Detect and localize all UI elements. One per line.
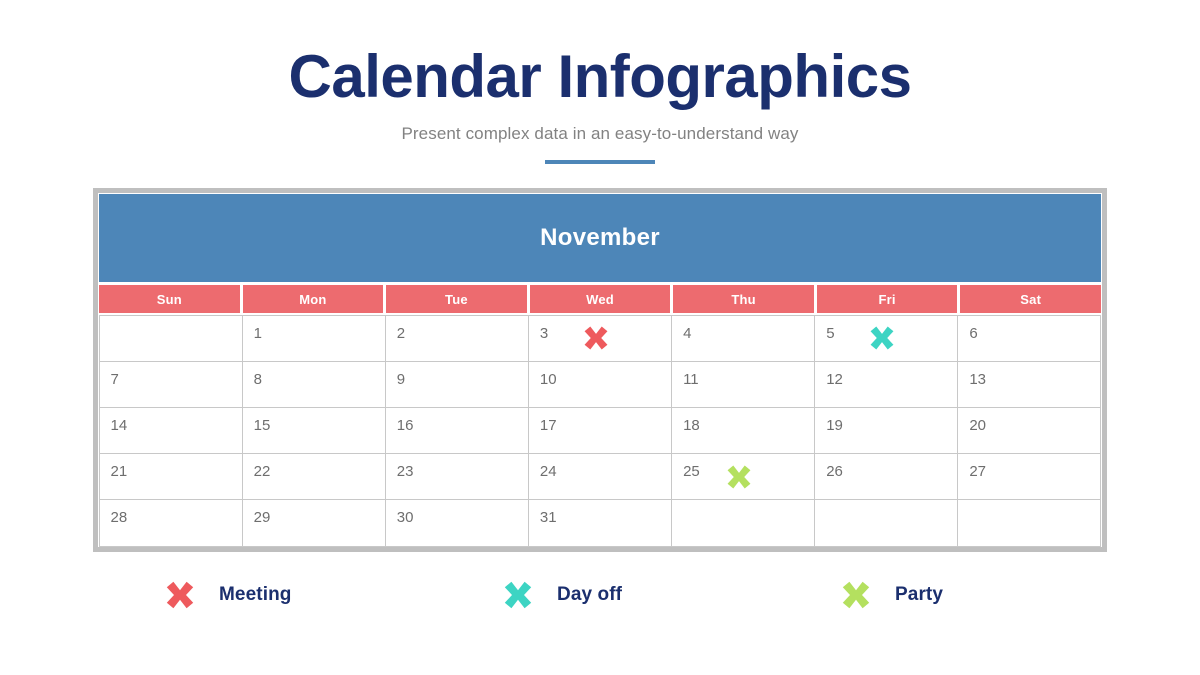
- day-cell-21[interactable]: 21: [99, 453, 243, 500]
- legend-day-off-cross-icon: [503, 580, 533, 610]
- legend-label: Party: [895, 584, 943, 606]
- day-number: 26: [826, 464, 843, 479]
- legend-item-day-off[interactable]: Day off: [431, 580, 769, 610]
- day-number: 10: [540, 372, 557, 387]
- legend-label: Day off: [557, 584, 622, 606]
- calendar-legend: MeetingDay offParty: [93, 580, 1107, 610]
- day-cell-10[interactable]: 10: [528, 361, 672, 408]
- day-number: 29: [254, 510, 271, 525]
- slide-canvas: Calendar Infographics Present complex da…: [0, 0, 1200, 675]
- event-marker-party-icon: [726, 464, 752, 490]
- day-cell-27[interactable]: 27: [957, 453, 1101, 500]
- day-cell-23[interactable]: 23: [385, 453, 529, 500]
- day-number: 15: [254, 418, 271, 433]
- day-number: 8: [254, 372, 262, 387]
- calendar-table: November SunMonTueWedThuFriSat 123456789…: [93, 188, 1107, 552]
- calendar-week-rows: 1234567891011121314151617181920212223242…: [99, 315, 1101, 546]
- day-cell-8[interactable]: 8: [242, 361, 386, 408]
- day-cell-29[interactable]: 29: [242, 499, 386, 546]
- day-cell-26[interactable]: 26: [814, 453, 958, 500]
- day-number: 4: [683, 326, 691, 341]
- day-number: 9: [397, 372, 405, 387]
- calendar-week-row: 78910111213: [99, 361, 1101, 407]
- day-cell-24[interactable]: 24: [528, 453, 672, 500]
- day-number: 28: [111, 510, 128, 525]
- weekday-header-wed: Wed: [530, 285, 671, 313]
- day-number: 19: [826, 418, 843, 433]
- weekday-header-sun: Sun: [99, 285, 240, 313]
- day-cell-3[interactable]: 3: [528, 315, 672, 362]
- page-title: Calendar Infographics: [0, 44, 1200, 110]
- day-cell-18[interactable]: 18: [671, 407, 815, 454]
- day-cell-15[interactable]: 15: [242, 407, 386, 454]
- day-number: 30: [397, 510, 414, 525]
- day-number: 2: [397, 326, 405, 341]
- day-number: 24: [540, 464, 557, 479]
- day-cell-31[interactable]: 31: [528, 499, 672, 546]
- day-number: 31: [540, 510, 557, 525]
- day-number: 13: [969, 372, 986, 387]
- day-number: 12: [826, 372, 843, 387]
- day-number: 17: [540, 418, 557, 433]
- legend-party-cross-icon: [841, 580, 871, 610]
- day-cell-17[interactable]: 17: [528, 407, 672, 454]
- day-cell-12[interactable]: 12: [814, 361, 958, 408]
- legend-item-meeting[interactable]: Meeting: [93, 580, 431, 610]
- day-number: 6: [969, 326, 977, 341]
- day-number: 27: [969, 464, 986, 479]
- weekday-header-fri: Fri: [817, 285, 958, 313]
- legend-item-party[interactable]: Party: [769, 580, 1107, 610]
- day-number: 11: [683, 372, 699, 387]
- legend-label: Meeting: [219, 584, 291, 606]
- calendar-week-row: 123456: [99, 315, 1101, 361]
- day-number: 3: [540, 326, 548, 341]
- day-number: 7: [111, 372, 119, 387]
- day-cell-empty[interactable]: [814, 499, 958, 546]
- day-number: 25: [683, 464, 700, 479]
- day-cell-9[interactable]: 9: [385, 361, 529, 408]
- day-cell-1[interactable]: 1: [242, 315, 386, 362]
- page-subtitle: Present complex data in an easy-to-under…: [0, 124, 1200, 144]
- calendar-month-header: November: [99, 194, 1101, 282]
- title-divider-wrap: [0, 160, 1200, 164]
- day-number: 20: [969, 418, 986, 433]
- day-cell-30[interactable]: 30: [385, 499, 529, 546]
- event-marker-day-off-icon: [869, 325, 895, 351]
- day-cell-19[interactable]: 19: [814, 407, 958, 454]
- calendar-weekday-row: SunMonTueWedThuFriSat: [99, 285, 1101, 313]
- day-cell-25[interactable]: 25: [671, 453, 815, 500]
- day-cell-2[interactable]: 2: [385, 315, 529, 362]
- day-cell-11[interactable]: 11: [671, 361, 815, 408]
- calendar-week-row: 21222324252627: [99, 454, 1101, 500]
- day-number: 21: [111, 464, 128, 479]
- day-cell-4[interactable]: 4: [671, 315, 815, 362]
- day-cell-6[interactable]: 6: [957, 315, 1101, 362]
- weekday-header-thu: Thu: [673, 285, 814, 313]
- weekday-header-sat: Sat: [960, 285, 1101, 313]
- day-cell-22[interactable]: 22: [242, 453, 386, 500]
- day-cell-empty[interactable]: [99, 315, 243, 362]
- day-cell-13[interactable]: 13: [957, 361, 1101, 408]
- calendar-inner: November SunMonTueWedThuFriSat 123456789…: [99, 194, 1101, 546]
- day-number: 18: [683, 418, 700, 433]
- weekday-header-mon: Mon: [243, 285, 384, 313]
- day-cell-5[interactable]: 5: [814, 315, 958, 362]
- day-cell-28[interactable]: 28: [99, 499, 243, 546]
- legend-meeting-cross-icon: [165, 580, 195, 610]
- title-divider: [545, 160, 655, 164]
- event-marker-meeting-icon: [583, 325, 609, 351]
- calendar-week-row: 14151617181920: [99, 407, 1101, 453]
- day-cell-7[interactable]: 7: [99, 361, 243, 408]
- day-number: 14: [111, 418, 128, 433]
- day-number: 5: [826, 326, 834, 341]
- weekday-header-tue: Tue: [386, 285, 527, 313]
- day-cell-14[interactable]: 14: [99, 407, 243, 454]
- slide-header: Calendar Infographics Present complex da…: [0, 0, 1200, 164]
- day-number: 23: [397, 464, 414, 479]
- day-cell-16[interactable]: 16: [385, 407, 529, 454]
- day-cell-empty[interactable]: [957, 499, 1101, 546]
- day-number: 16: [397, 418, 414, 433]
- calendar-week-row: 28293031: [99, 500, 1101, 546]
- day-cell-empty[interactable]: [671, 499, 815, 546]
- day-cell-20[interactable]: 20: [957, 407, 1101, 454]
- day-number: 22: [254, 464, 271, 479]
- day-number: 1: [254, 326, 262, 341]
